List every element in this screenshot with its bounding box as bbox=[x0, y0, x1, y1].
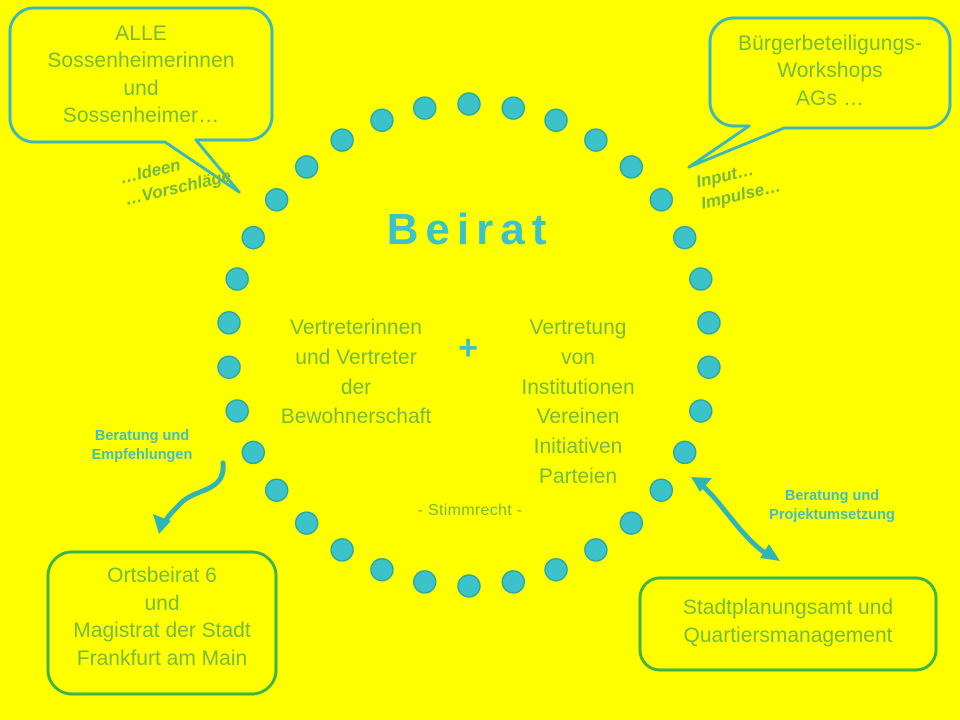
ring-dot bbox=[226, 400, 248, 422]
ring-dot bbox=[331, 539, 353, 561]
ortsbeirat-box-text: Ortsbeirat 6 und Magistrat der Stadt Fra… bbox=[52, 562, 272, 673]
ring-dot bbox=[585, 539, 607, 561]
ring-dot bbox=[690, 268, 712, 290]
page-title: Beirat bbox=[240, 205, 700, 255]
ring-dot bbox=[218, 312, 240, 334]
ring-dot bbox=[698, 312, 720, 334]
ring-dot bbox=[458, 93, 480, 115]
stadtplanungsamt-box-text: Stadtplanungsamt und Quartiersmanagement bbox=[644, 594, 932, 649]
ring-dot bbox=[620, 512, 642, 534]
left-column-text: Vertreterinnen und Vertreter der Bewohne… bbox=[268, 313, 444, 432]
stimmrecht-label: - Stimmrecht - bbox=[330, 502, 610, 520]
ring-dot bbox=[414, 97, 436, 119]
beirat-title: Beirat bbox=[240, 205, 700, 255]
ring-dot bbox=[620, 156, 642, 178]
advice-arrow-left bbox=[153, 463, 223, 534]
ring-dot bbox=[242, 441, 264, 463]
right-column-text: Vertretung von Institutionen Vereinen In… bbox=[492, 313, 664, 492]
ring-dot bbox=[218, 356, 240, 378]
ring-dot bbox=[371, 109, 393, 131]
ring-dot bbox=[296, 156, 318, 178]
ring-dot bbox=[226, 268, 248, 290]
ring-dot bbox=[371, 559, 393, 581]
plus-icon: + bbox=[448, 331, 488, 365]
ring-dot bbox=[585, 129, 607, 151]
ring-dot bbox=[458, 575, 480, 597]
ring-dot bbox=[502, 571, 524, 593]
citizens-bubble-text: ALLE Sossenheimerinnen und Sossenheimer… bbox=[14, 20, 268, 129]
diagram-canvas: ALLE Sossenheimerinnen und Sossenheimer…… bbox=[0, 0, 960, 720]
ring-dot bbox=[414, 571, 436, 593]
ring-dot bbox=[266, 479, 288, 501]
ring-dot bbox=[296, 512, 318, 534]
workshops-bubble-text: Bürgerbeteiligungs- Workshops AGs … bbox=[714, 30, 946, 112]
ring-dot bbox=[690, 400, 712, 422]
ring-dot bbox=[674, 441, 696, 463]
ring-dot bbox=[545, 109, 567, 131]
ring-dot bbox=[698, 356, 720, 378]
ring-dot bbox=[502, 97, 524, 119]
ring-dot bbox=[545, 559, 567, 581]
ring-dot bbox=[331, 129, 353, 151]
ortsbeirat-arrow-label: Beratung und Empfehlungen bbox=[72, 427, 212, 465]
stadtplanungsamt-arrow-label: Beratung und Projektumsetzung bbox=[748, 487, 916, 525]
stimmrecht-note: - Stimmrecht - bbox=[330, 502, 610, 520]
